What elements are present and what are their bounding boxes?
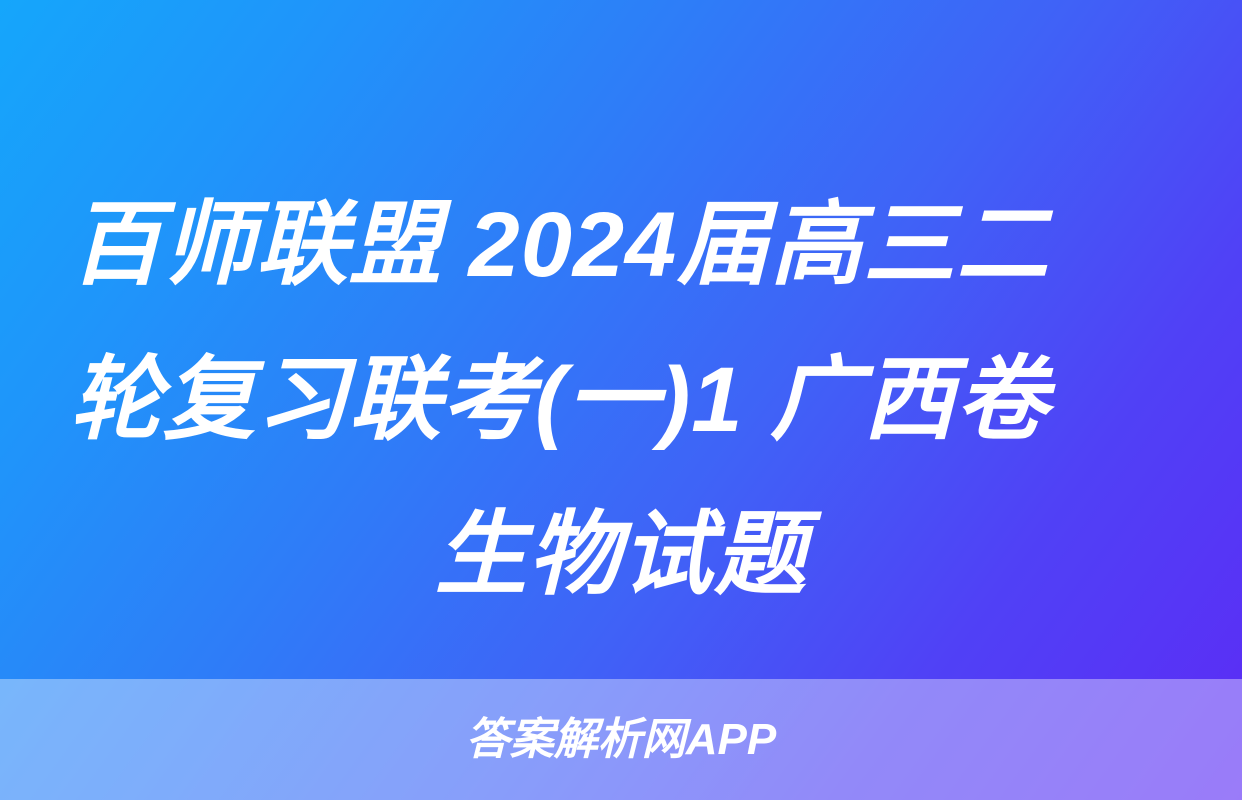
watermark: 答案解析网APP xyxy=(0,679,1242,800)
title-line-1: 百师联盟 2024届高三二 xyxy=(70,168,1172,323)
title-line-3: 生物试题 xyxy=(70,478,1172,633)
title-card: 百师联盟 2024届高三二 轮复习联考(一)1 广西卷 生物试题 答案解析网AP… xyxy=(0,0,1242,800)
page-title: 百师联盟 2024届高三二 轮复习联考(一)1 广西卷 生物试题 xyxy=(0,168,1242,633)
title-line-2: 轮复习联考(一)1 广西卷 xyxy=(70,323,1172,478)
watermark-label: 答案解析网APP xyxy=(466,718,776,762)
